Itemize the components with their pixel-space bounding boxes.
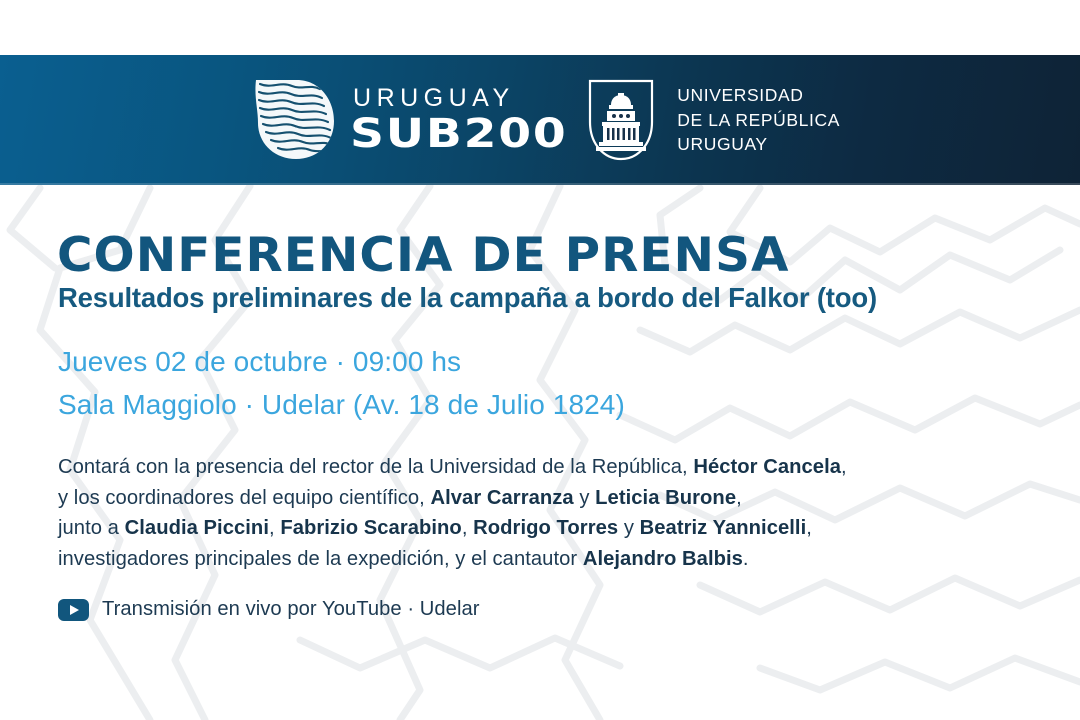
- description-line: Contará con la presencia del rector de l…: [58, 452, 847, 483]
- person-name: Héctor Cancela: [693, 456, 841, 478]
- description-line: junto a Claudia Piccini, Fabrizio Scarab…: [58, 513, 847, 544]
- person-name: Alejandro Balbis: [583, 548, 743, 570]
- description-text: y: [618, 517, 639, 539]
- page-subtitle: Resultados preliminares de la campaña a …: [58, 282, 877, 314]
- description-text: y los coordinadores del equipo científic…: [58, 487, 430, 509]
- event-description: Contará con la presencia del rector de l…: [58, 452, 847, 575]
- description-text: y: [574, 487, 595, 509]
- description-text: investigadores principales de la expedic…: [58, 548, 583, 570]
- page-title: CONFERENCIA DE PRENSA: [57, 228, 789, 283]
- description-text: ,: [806, 517, 812, 539]
- live-stream-line[interactable]: Transmisión en vivo por YouTube · Udelar: [58, 598, 480, 621]
- person-name: Beatriz Yannicelli: [640, 517, 807, 539]
- event-datetime: Jueves 02 de octubre · 09:00 hs: [58, 341, 625, 384]
- description-line: y los coordinadores del equipo científic…: [58, 483, 847, 514]
- youtube-play-icon[interactable]: [58, 599, 89, 621]
- description-text: ,: [269, 517, 280, 539]
- live-stream-label: Transmisión en vivo por YouTube · Udelar: [102, 598, 480, 621]
- person-name: Alvar Carranza: [430, 487, 573, 509]
- description-text: .: [743, 548, 749, 570]
- description-text: junto a: [58, 517, 125, 539]
- person-name: Leticia Burone: [595, 487, 736, 509]
- description-text: ,: [462, 517, 473, 539]
- person-name: Rodrigo Torres: [473, 517, 618, 539]
- event-location: Sala Maggiolo · Udelar (Av. 18 de Julio …: [58, 384, 625, 427]
- person-name: Fabrizio Scarabino: [280, 517, 462, 539]
- person-name: Claudia Piccini: [125, 517, 269, 539]
- poster-content: CONFERENCIA DE PRENSA Resultados prelimi…: [0, 0, 1080, 720]
- description-line: investigadores principales de la expedic…: [58, 544, 847, 575]
- description-text: Contará con la presencia del rector de l…: [58, 456, 693, 478]
- press-conference-poster: URUGUAY SUB200: [0, 0, 1080, 720]
- event-details: Jueves 02 de octubre · 09:00 hs Sala Mag…: [58, 341, 625, 426]
- description-text: ,: [841, 456, 847, 478]
- description-text: ,: [736, 487, 742, 509]
